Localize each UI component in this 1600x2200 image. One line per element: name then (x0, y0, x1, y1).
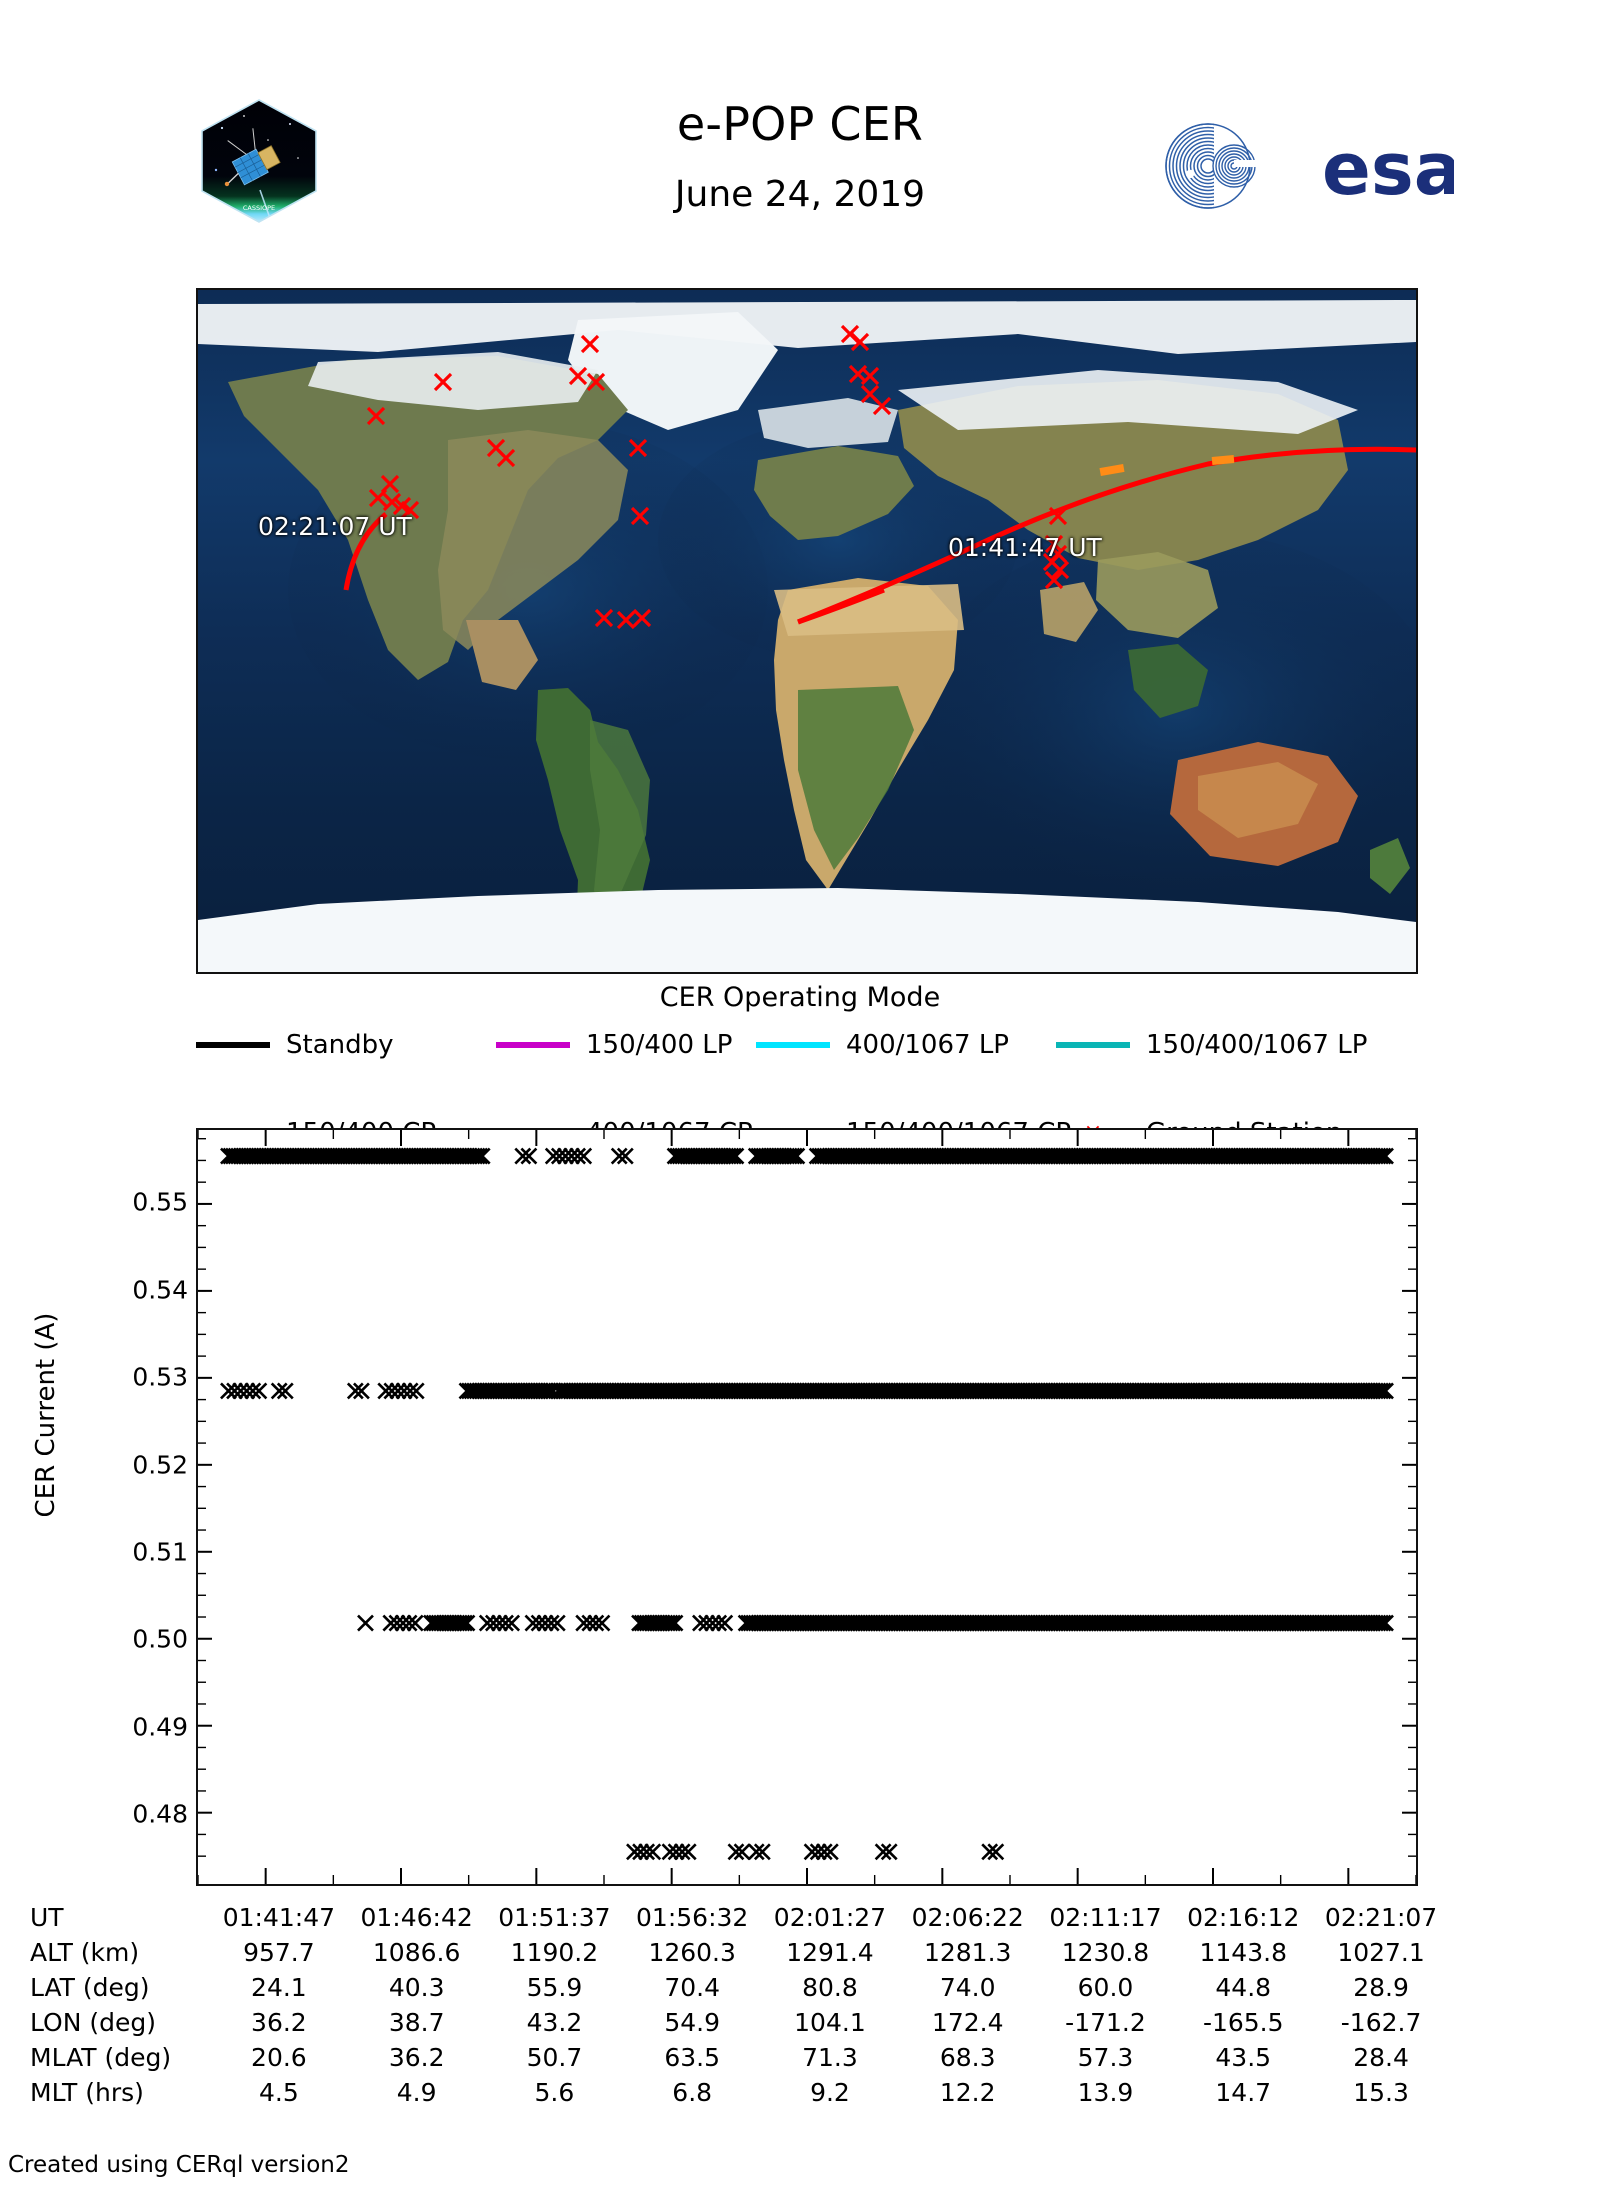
legend-label: 400/1067 LP (846, 1030, 1009, 1060)
table-cell: 20.6 (210, 2040, 348, 2075)
y-axis-tick-label: 0.52 (132, 1450, 188, 1479)
table-cell: 40.3 (348, 1970, 486, 2005)
table-cell: 50.7 (486, 2040, 624, 2075)
table-cell: 43.2 (486, 2005, 624, 2040)
table-cell: 44.8 (1174, 1970, 1312, 2005)
legend-color-swatch (496, 1042, 570, 1048)
arctic-ice (198, 300, 1416, 354)
table-cell: 43.5 (1174, 2040, 1312, 2075)
table-row: ALT (km)957.71086.61190.21260.31291.4128… (30, 1935, 1450, 1970)
table-cell: 104.1 (761, 2005, 899, 2040)
y-axis-tick-label: 0.48 (132, 1800, 188, 1829)
legend-label: Standby (286, 1030, 394, 1060)
legend-row: Standby150/400 LP400/1067 LP150/400/1067… (196, 1030, 1420, 1074)
table-cell: 4.5 (210, 2075, 348, 2110)
footer-credit: Created using CERql version2 (8, 2152, 350, 2178)
esa-logo: esa (1162, 120, 1454, 212)
table-row: LAT (deg)24.140.355.970.480.874.060.044.… (30, 1970, 1450, 2005)
table-cell: 28.9 (1312, 1970, 1450, 2005)
table-cell: 13.9 (1037, 2075, 1175, 2110)
table-cell: 1230.8 (1037, 1935, 1175, 1970)
table-cell: 172.4 (899, 2005, 1037, 2040)
table-cell: 1027.1 (1312, 1935, 1450, 1970)
legend-color-swatch (1056, 1042, 1130, 1048)
table-cell: 55.9 (486, 1970, 624, 2005)
legend-entry: 150/400/1067 LP (1056, 1030, 1367, 1060)
cassiope-logo: CASSIOPE (198, 98, 320, 224)
y-axis-tick-label: 0.50 (132, 1625, 188, 1654)
y-axis-tick-label: 0.49 (132, 1712, 188, 1741)
table-row-label: UT (30, 1900, 210, 1935)
header: CASSIOPE e-POP CER June 24, 2019 (0, 0, 1600, 270)
table-cell: 01:56:32 (623, 1900, 761, 1935)
table-cell: 02:21:07 (1312, 1900, 1450, 1935)
table-cell: 4.9 (348, 2075, 486, 2110)
table-cell: 63.5 (623, 2040, 761, 2075)
plot-data-points (221, 1149, 1393, 1860)
plot-axis-ticks (198, 1130, 1416, 1884)
table-row: UT01:41:4701:46:4201:51:3701:56:3202:01:… (30, 1900, 1450, 1935)
legend-label: 150/400 LP (586, 1030, 732, 1060)
table-cell: 36.2 (348, 2040, 486, 2075)
world-map (198, 290, 1416, 972)
table-cell: 80.8 (761, 1970, 899, 2005)
table-cell: 1086.6 (348, 1935, 486, 1970)
table-cell: 28.4 (1312, 2040, 1450, 2075)
table-row-label: MLAT (deg) (30, 2040, 210, 2075)
map-subtitle: CER Operating Mode (0, 982, 1600, 1013)
table-cell: 01:51:37 (486, 1900, 624, 1935)
table-cell: 01:41:47 (210, 1900, 348, 1935)
table-cell: -171.2 (1037, 2005, 1175, 2040)
table-cell: -165.5 (1174, 2005, 1312, 2040)
table-row: LON (deg)36.238.743.254.9104.1172.4-171.… (30, 2005, 1450, 2040)
data-point-marker (358, 1616, 373, 1631)
table-cell: 68.3 (899, 2040, 1037, 2075)
table-cell: 957.7 (210, 1935, 348, 1970)
table-row-label: MLT (hrs) (30, 2075, 210, 2110)
y-axis-tick-label: 0.55 (132, 1188, 188, 1217)
table-cell: 02:01:27 (761, 1900, 899, 1935)
table-row-label: ALT (km) (30, 1935, 210, 1970)
legend-color-swatch (756, 1042, 830, 1048)
table-row: MLAT (deg)20.636.250.763.571.368.357.343… (30, 2040, 1450, 2075)
table-cell: 14.7 (1174, 2075, 1312, 2110)
page-title: e-POP CER (480, 100, 1120, 148)
table-cell: -162.7 (1312, 2005, 1450, 2040)
parameter-table: UT01:41:4701:46:4201:51:3701:56:3202:01:… (30, 1900, 1450, 2110)
y-axis-tick-labels: 0.550.540.530.520.510.500.490.48 (40, 1128, 188, 1886)
table-row: MLT (hrs)4.54.95.66.89.212.213.914.715.3 (30, 2075, 1450, 2110)
table-cell: 71.3 (761, 2040, 899, 2075)
legend-entry: 400/1067 LP (756, 1030, 1009, 1060)
table-cell: 12.2 (899, 2075, 1037, 2110)
scatter-plot-panel (196, 1128, 1418, 1886)
table-cell: 1291.4 (761, 1935, 899, 1970)
table-cell: 70.4 (623, 1970, 761, 2005)
page-date: June 24, 2019 (480, 174, 1120, 215)
scatter-plot (198, 1130, 1416, 1884)
table-cell: 38.7 (348, 2005, 486, 2040)
y-axis-tick-label: 0.53 (132, 1363, 188, 1392)
table-cell: 5.6 (486, 2075, 624, 2110)
legend-color-swatch (196, 1042, 270, 1048)
table-cell: 36.2 (210, 2005, 348, 2040)
table-cell: 02:11:17 (1037, 1900, 1175, 1935)
map-time-label-left: 02:21:07 UT (258, 512, 412, 541)
table-cell: 1143.8 (1174, 1935, 1312, 1970)
cassiope-logo-text: CASSIOPE (243, 204, 275, 212)
table-cell: 54.9 (623, 2005, 761, 2040)
legend-entry: 150/400 LP (496, 1030, 732, 1060)
legend-entry: Standby (196, 1030, 394, 1060)
table-cell: 9.2 (761, 2075, 899, 2110)
table-cell: 1281.3 (899, 1935, 1037, 1970)
table-cell: 02:16:12 (1174, 1900, 1312, 1935)
table-cell: 57.3 (1037, 2040, 1175, 2075)
table-cell: 60.0 (1037, 1970, 1175, 2005)
legend-label: 150/400/1067 LP (1146, 1030, 1367, 1060)
legend: Standby150/400 LP400/1067 LP150/400/1067… (196, 1030, 1420, 1118)
esa-logo-wordmark: esa (1322, 127, 1454, 211)
world-map-panel: 02:21:07 UT 01:41:47 UT (196, 288, 1418, 974)
table-cell: 74.0 (899, 1970, 1037, 2005)
parameter-table-wrap: UT01:41:4701:46:4201:51:3701:56:3202:01:… (30, 1900, 1450, 2110)
table-row-label: LAT (deg) (30, 1970, 210, 2005)
table-cell: 15.3 (1312, 2075, 1450, 2110)
legend-row: 150/400 CP400/1067 CP150/400/1067 CP×Gro… (196, 1074, 1420, 1118)
table-cell: 24.1 (210, 1970, 348, 2005)
y-axis-tick-label: 0.54 (132, 1275, 188, 1304)
title-block: e-POP CER June 24, 2019 (480, 100, 1120, 215)
map-time-label-right: 01:41:47 UT (948, 533, 1102, 562)
table-cell: 1260.3 (623, 1935, 761, 1970)
table-row-label: LON (deg) (30, 2005, 210, 2040)
table-cell: 1190.2 (486, 1935, 624, 1970)
page-root: CASSIOPE e-POP CER June 24, 2019 (0, 0, 1600, 2200)
table-cell: 02:06:22 (899, 1900, 1037, 1935)
y-axis-title: CER Current (A) (31, 1265, 61, 1565)
y-axis-tick-label: 0.51 (132, 1538, 188, 1567)
table-cell: 6.8 (623, 2075, 761, 2110)
table-cell: 01:46:42 (348, 1900, 486, 1935)
